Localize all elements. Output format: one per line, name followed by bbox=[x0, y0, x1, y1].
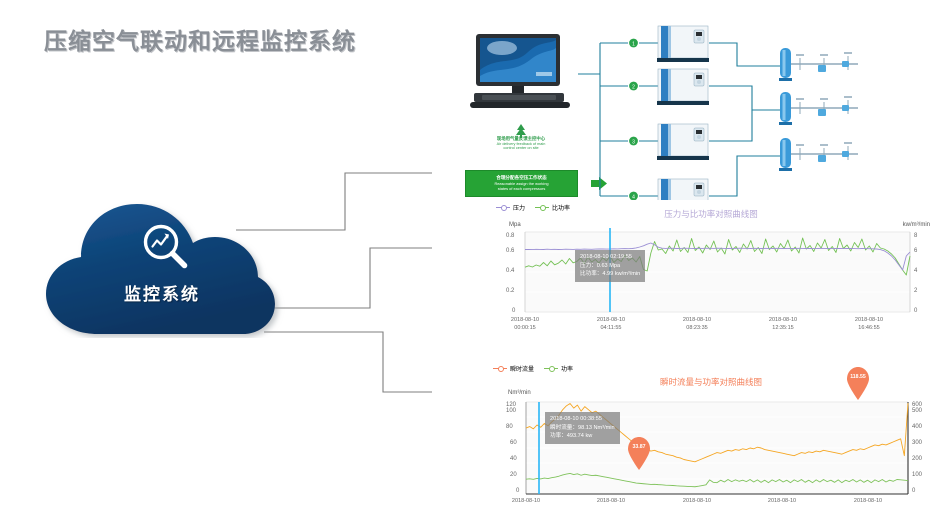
chart2-xtick-4-date: 2018-08-10 bbox=[854, 498, 882, 504]
chart1-xtick-3-time: 12:35:15 bbox=[772, 325, 793, 331]
chart2-xtick-3-date: 2018-08-10 bbox=[768, 498, 796, 504]
chart1-xtick-2-date: 2018-08-10 bbox=[683, 317, 711, 323]
chart1-xtick-4-date: 2018-08-10 bbox=[855, 317, 883, 323]
svg-text:2: 2 bbox=[632, 84, 635, 90]
pin-shape bbox=[626, 436, 652, 470]
chart1-xtick-2: 2018-08-10 08:23:35 bbox=[667, 317, 727, 333]
chart2-tooltip: 2018-08-10 00:38:55 瞬时流量：98.13 Nm³/min 功… bbox=[545, 412, 620, 444]
chart2-marker-1[interactable]: 118.55 bbox=[845, 366, 871, 400]
chart1-xtick-3-date: 2018-08-10 bbox=[769, 317, 797, 323]
chart-magnifier-icon bbox=[140, 222, 192, 274]
slide-canvas: 压缩空气联动和远程监控系统 bbox=[0, 0, 945, 529]
chart2-tooltip-row-1: 功率：493.74 kw bbox=[550, 432, 615, 441]
chart1-xtick-1-date: 2018-08-10 bbox=[597, 317, 625, 323]
chart1-xtick-3: 2018-08-10 12:35:15 bbox=[753, 317, 813, 333]
chart2-xtick-2: 2018-08-10 bbox=[667, 498, 727, 506]
chart1-xtick-0-date: 2018-08-10 bbox=[511, 317, 539, 323]
chart1-tooltip-row-0: 压力：0.63 Mpa bbox=[580, 262, 640, 271]
chart1-xtick-4: 2018-08-10 16:46:55 bbox=[839, 317, 899, 333]
chart1-xtick-0-time: 00:00:15 bbox=[514, 325, 535, 331]
pin-shape bbox=[845, 366, 871, 400]
chart1-tooltip: 2018-08-10 02:19:55 压力：0.63 Mpa 比功率：4.99… bbox=[575, 250, 645, 282]
chart2-xtick-0-date: 2018-08-10 bbox=[512, 498, 540, 504]
chart2-xtick-4: 2018-08-10 bbox=[838, 498, 898, 506]
chart2-marker-1-label: 118.55 bbox=[845, 374, 871, 380]
chart1-xtick-0: 2018-08-10 00:00:15 bbox=[495, 317, 555, 333]
chart1-xtick-4-time: 16:46:55 bbox=[858, 325, 879, 331]
chart2-xtick-0: 2018-08-10 bbox=[496, 498, 556, 506]
chart1-xtick-1-time: 04:11:55 bbox=[600, 325, 621, 331]
cloud-label: 监控系统 bbox=[36, 280, 288, 305]
chart1-tooltip-time: 2018-08-10 02:19:55 bbox=[580, 253, 640, 262]
monitoring-cloud[interactable]: 监控系统 bbox=[36, 196, 288, 338]
system-diagram-panel: 现场用气量反馈主控中心 Air delivery feedback of mai… bbox=[432, 18, 932, 208]
status-nodes: 1 2 3 4 bbox=[629, 39, 638, 201]
chart-pressure-specific-power[interactable]: 压力 比功率 压力与比功率对照曲线图 Mpa kw/m³/min 0 0.2 0… bbox=[490, 200, 932, 340]
chart2-marker-0-label: 33.87 bbox=[626, 444, 652, 450]
chart2-tooltip-row-0: 瞬时流量：98.13 Nm³/min bbox=[550, 424, 615, 433]
compressor-plant-diagram: 1 2 3 4 bbox=[432, 18, 932, 208]
svg-text:1: 1 bbox=[632, 41, 635, 47]
chart1-xtick-2-time: 08:23:35 bbox=[686, 325, 707, 331]
chart2-tooltip-time: 2018-08-10 00:38:55 bbox=[550, 415, 615, 424]
chart2-xtick-1-date: 2018-08-10 bbox=[597, 498, 625, 504]
chart1-xtick-1: 2018-08-10 04:11:55 bbox=[581, 317, 641, 333]
chart2-xtick-3: 2018-08-10 bbox=[752, 498, 812, 506]
svg-text:3: 3 bbox=[632, 139, 635, 145]
chart2-xtick-2-date: 2018-08-10 bbox=[683, 498, 711, 504]
chart-flow-power[interactable]: 瞬时流量 功率 瞬时流量与功率对照曲线图 Nm³/min 0 20 40 60 … bbox=[490, 362, 932, 529]
chart2-marker-0[interactable]: 33.87 bbox=[626, 436, 652, 470]
chart1-tooltip-row-1: 比功率：4.99 kw/m³/min bbox=[580, 270, 640, 279]
chart2-xtick-1: 2018-08-10 bbox=[581, 498, 641, 506]
air-tank-assemblies bbox=[779, 48, 858, 171]
compressor-units bbox=[657, 26, 709, 208]
